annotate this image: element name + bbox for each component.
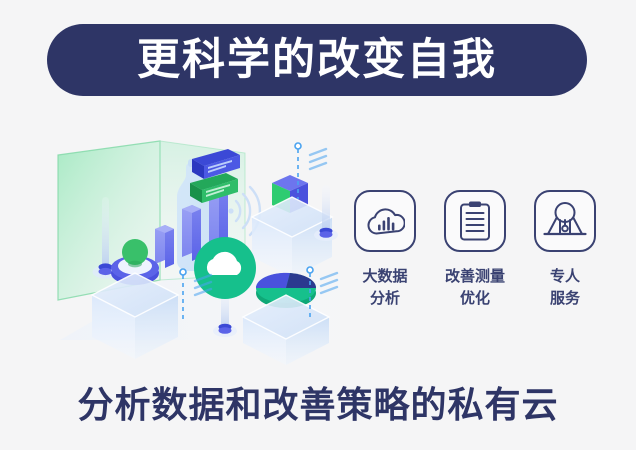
feature-item-measurement[interactable]: 改善测量 优化: [440, 190, 510, 310]
feature-list: 大数据 分析 改善测量 优化: [350, 190, 600, 330]
feature-label-service: 专人 服务: [550, 266, 580, 310]
isometric-illustration: [40, 125, 340, 365]
page-title: 更科学的改变自我: [137, 39, 497, 82]
clipboard-lines-icon: [458, 200, 492, 242]
tagline: 分析数据和改善策略的私有云: [0, 386, 636, 426]
feature-item-big-data[interactable]: 大数据 分析: [350, 190, 420, 310]
feature-label-measurement: 改善测量 优化: [445, 266, 505, 310]
feature-label-big-data: 大数据 分析: [362, 266, 407, 310]
cloud-bar-chart-icon: [365, 204, 405, 238]
cloud-bar-chart-icon-box[interactable]: [354, 190, 416, 252]
poster-canvas: 更科学的改变自我: [0, 0, 636, 450]
clipboard-lines-icon-box[interactable]: [444, 190, 506, 252]
feature-item-service[interactable]: 专人 服务: [530, 190, 600, 310]
service-person-icon: [543, 201, 587, 241]
header-banner: 更科学的改变自我: [47, 24, 587, 96]
service-person-icon-box[interactable]: [534, 190, 596, 252]
